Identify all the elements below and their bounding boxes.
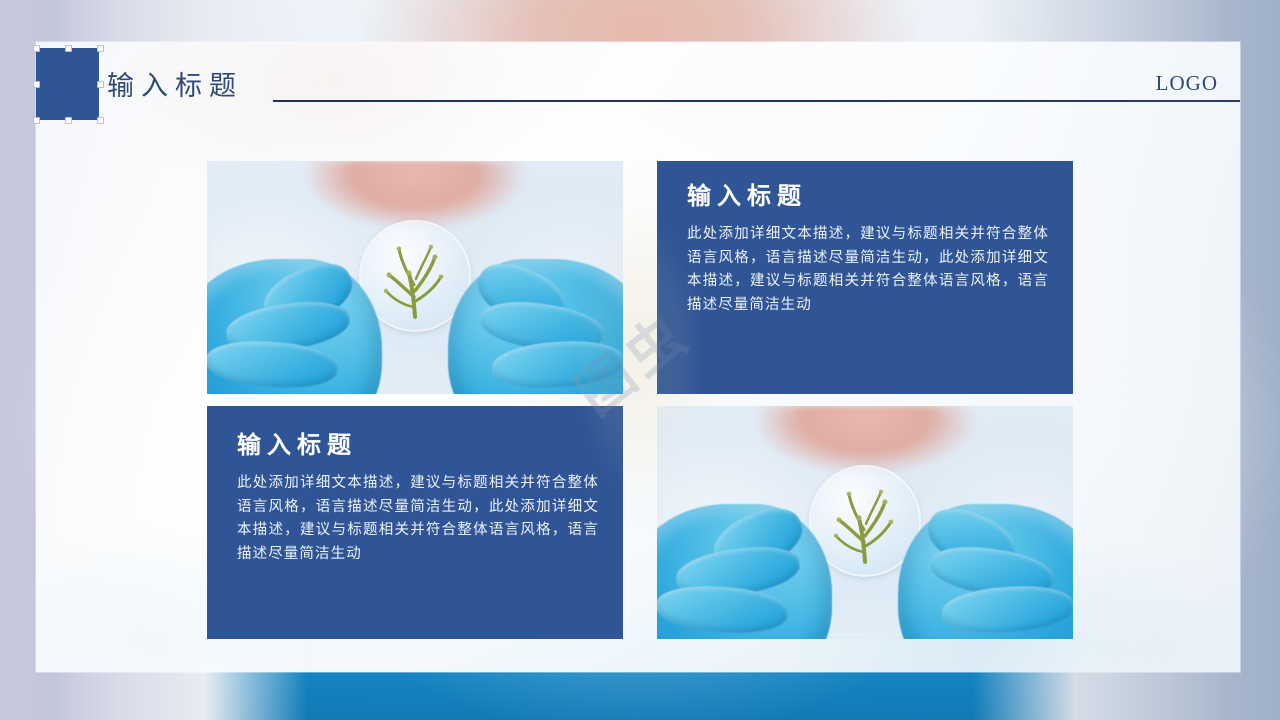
card-paragraph-bottom-left[interactable]: 此处添加详细文本描述，建议与标题相关并符合整体语言风格，语言描述尽量简洁生动，此… xyxy=(237,472,599,566)
selection-handle-top-right[interactable] xyxy=(97,45,104,52)
selection-handle-bottom-center[interactable] xyxy=(65,117,72,124)
selection-handle-middle-right[interactable] xyxy=(97,81,104,88)
text-card-top-right[interactable]: 输入标题 此处添加详细文本描述，建议与标题相关并符合整体语言风格，语言描述尽量简… xyxy=(657,161,1073,394)
algae-sample-icon xyxy=(819,479,911,565)
petri-dish-icon xyxy=(361,221,469,329)
slide-canvas: 输入标题 LOGO xyxy=(0,0,1280,720)
selection-handle-middle-left[interactable] xyxy=(33,81,40,88)
gloved-hand-right xyxy=(448,259,623,394)
header-divider-rule xyxy=(273,100,1240,102)
lab-petri-dish-photo xyxy=(207,161,623,394)
selection-handle-top-center[interactable] xyxy=(65,45,72,52)
card-title-bottom-left[interactable]: 输入标题 xyxy=(237,432,599,458)
card-paragraph-top-right[interactable]: 此处添加详细文本描述，建议与标题相关并符合整体语言风格，语言描述尽量简洁生动，此… xyxy=(687,223,1049,317)
lab-petri-dish-photo xyxy=(657,406,1073,639)
selection-handle-top-left[interactable] xyxy=(33,45,40,52)
text-card-body-top-right: 输入标题 此处添加详细文本描述，建议与标题相关并符合整体语言风格，语言描述尽量简… xyxy=(657,161,1073,394)
selection-handle-bottom-right[interactable] xyxy=(97,117,104,124)
card-title-top-right[interactable]: 输入标题 xyxy=(687,183,1049,209)
selection-handle-bottom-left[interactable] xyxy=(33,117,40,124)
petri-dish-icon xyxy=(811,466,919,574)
photo-top-left[interactable] xyxy=(207,161,623,394)
gloved-hand-right xyxy=(898,504,1073,639)
logo-placeholder[interactable]: LOGO xyxy=(1156,71,1218,96)
page-title[interactable]: 输入标题 xyxy=(107,64,243,103)
header-accent-square[interactable] xyxy=(36,48,99,120)
text-card-body-bottom-left: 输入标题 此处添加详细文本描述，建议与标题相关并符合整体语言风格，语言描述尽量简… xyxy=(207,406,623,639)
algae-sample-icon xyxy=(369,234,461,320)
text-card-bottom-left[interactable]: 输入标题 此处添加详细文本描述，建议与标题相关并符合整体语言风格，语言描述尽量简… xyxy=(207,406,623,639)
photo-bottom-right[interactable] xyxy=(657,406,1073,639)
